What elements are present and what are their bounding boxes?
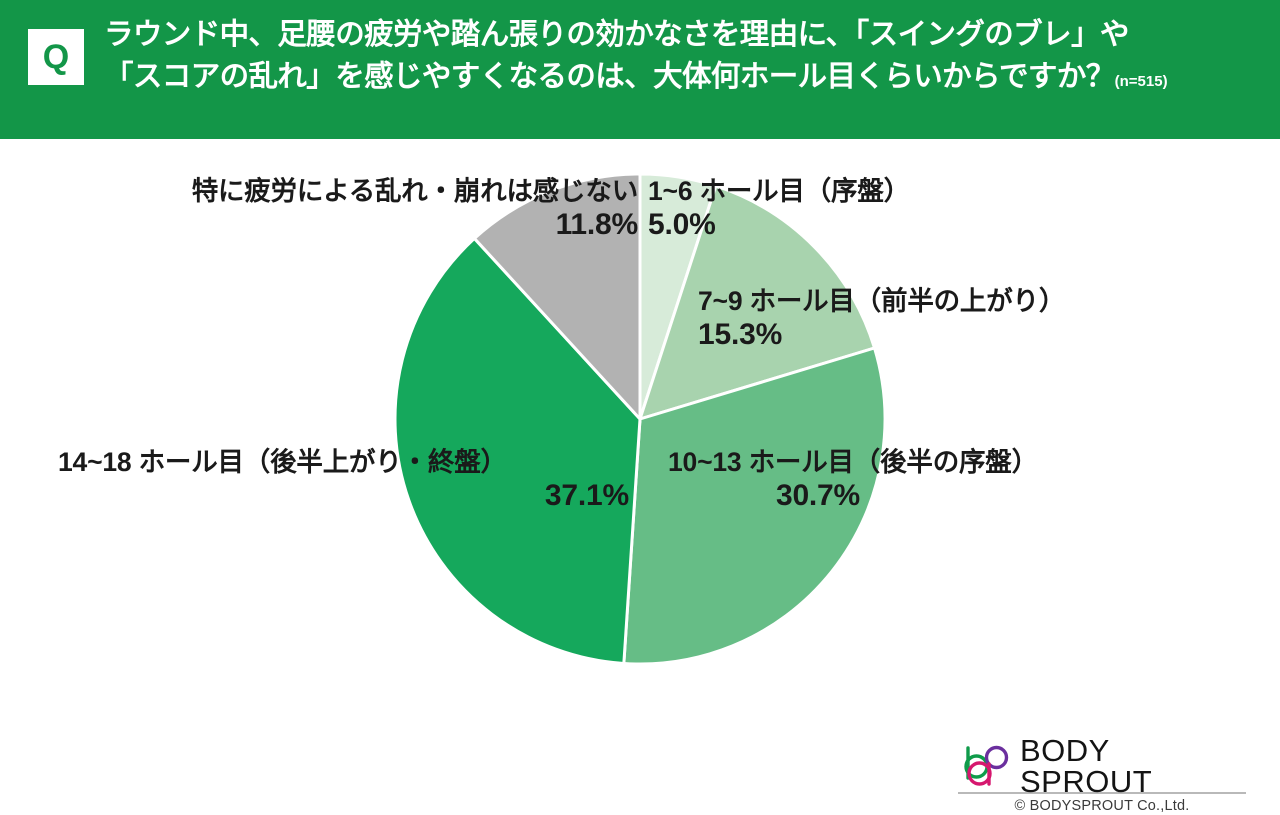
question-badge: Q <box>28 29 84 85</box>
question-title-line1: ラウンド中、足腰の疲労や踏ん張りの効かなさを理由に、「スイングのブレ」や <box>104 18 1129 51</box>
pie-chart <box>392 171 888 667</box>
question-badge-label: Q <box>43 40 69 74</box>
copyright-text: © BODYSPROUT Co.,Ltd. <box>958 798 1246 814</box>
pie-label-none-value: 11.8% <box>52 207 638 242</box>
pie-label-none-title: 特に疲労による乱れ・崩れは感じない <box>52 177 638 207</box>
brand-logo-row: BODY SPROUT <box>958 743 1246 789</box>
question-title-line2: 「スコアの乱れ」を感じやすくなるのは、大体何ホール目くらいからですか？ <box>104 60 1115 93</box>
brand-logo-block: BODY SPROUT © BODYSPROUT Co.,Ltd. <box>958 743 1246 815</box>
question-title-line2-wrap: 「スコアの乱れ」を感じやすくなるのは、大体何ホール目くらいからですか？(n=51… <box>104 56 1269 98</box>
question-header-band: Q ラウンド中、足腰の疲労や踏ん張りの効かなさを理由に、「スイングのブレ」や 「… <box>0 0 1280 139</box>
pie-label-none: 特に疲労による乱れ・崩れは感じない 11.8% <box>52 177 638 242</box>
sample-size-label: (n=515) <box>1115 73 1168 90</box>
brand-wordmark: BODY SPROUT <box>1020 735 1246 797</box>
pie-label-1-6-title: 1~6 ホール目（序盤） <box>648 177 910 207</box>
pie-label-7-9-value: 15.3% <box>698 317 1065 352</box>
pie-label-10-13-value: 30.7% <box>668 478 968 513</box>
pie-label-7-9: 7~9 ホール目（前半の上がり） 15.3% <box>698 287 1065 352</box>
pie-label-14-18-value: 37.1% <box>58 478 629 513</box>
bodysprout-logo-icon <box>958 744 1016 788</box>
pie-label-10-13: 10~13 ホール目（後半の序盤） 30.7% <box>668 448 1038 513</box>
pie-label-7-9-title: 7~9 ホール目（前半の上がり） <box>698 287 1065 317</box>
pie-label-1-6-value: 5.0% <box>648 207 910 242</box>
pie-label-1-6: 1~6 ホール目（序盤） 5.0% <box>648 177 910 242</box>
pie-chart-area: 特に疲労による乱れ・崩れは感じない 11.8% 1~6 ホール目（序盤） 5.0… <box>0 139 1280 685</box>
pie-label-14-18-title: 14~18 ホール目（後半上がり・終盤） <box>58 448 629 478</box>
question-title: ラウンド中、足腰の疲労や踏ん張りの効かなさを理由に、「スイングのブレ」や 「スコ… <box>104 14 1269 98</box>
pie-label-10-13-title: 10~13 ホール目（後半の序盤） <box>668 448 1038 478</box>
pie-label-14-18: 14~18 ホール目（後半上がり・終盤） 37.1% <box>58 448 629 513</box>
